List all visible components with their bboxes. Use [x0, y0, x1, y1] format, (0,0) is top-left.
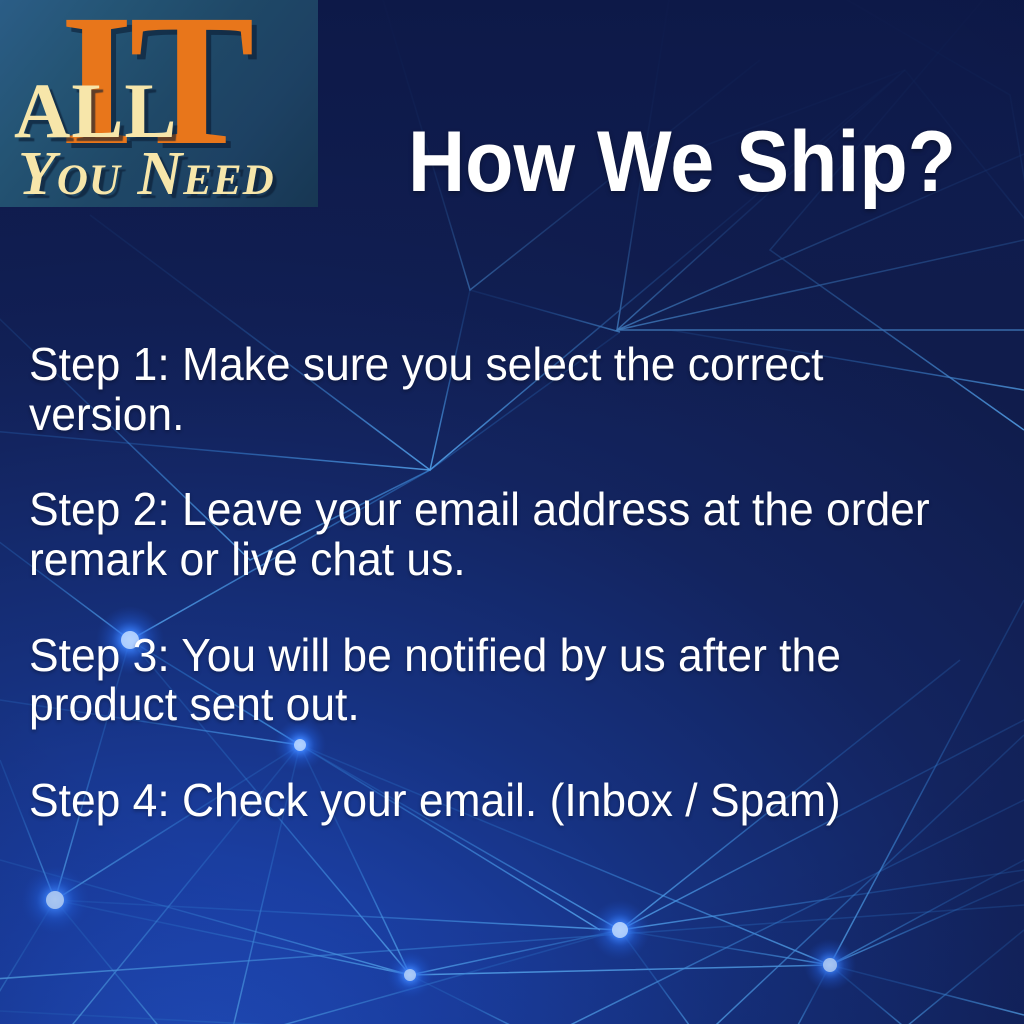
list-item: Step 2: Leave your email address at the …	[29, 485, 980, 584]
list-item: Step 3: You will be notified by us after…	[29, 631, 980, 730]
list-item: Step 1: Make sure you select the correct…	[29, 340, 980, 439]
page-title: How We Ship?	[378, 112, 985, 212]
shipping-steps-list: Step 1: Make sure you select the correct…	[29, 340, 1014, 826]
brand-logo: IT ALL You Need	[0, 0, 318, 207]
slide-canvas: IT ALL You Need How We Ship? Step 1: Mak…	[0, 0, 1024, 1024]
list-item: Step 4: Check your email. (Inbox / Spam)	[29, 776, 980, 826]
logo-you-need-text: You Need	[18, 143, 275, 205]
logo-all-text: ALL	[14, 72, 177, 150]
